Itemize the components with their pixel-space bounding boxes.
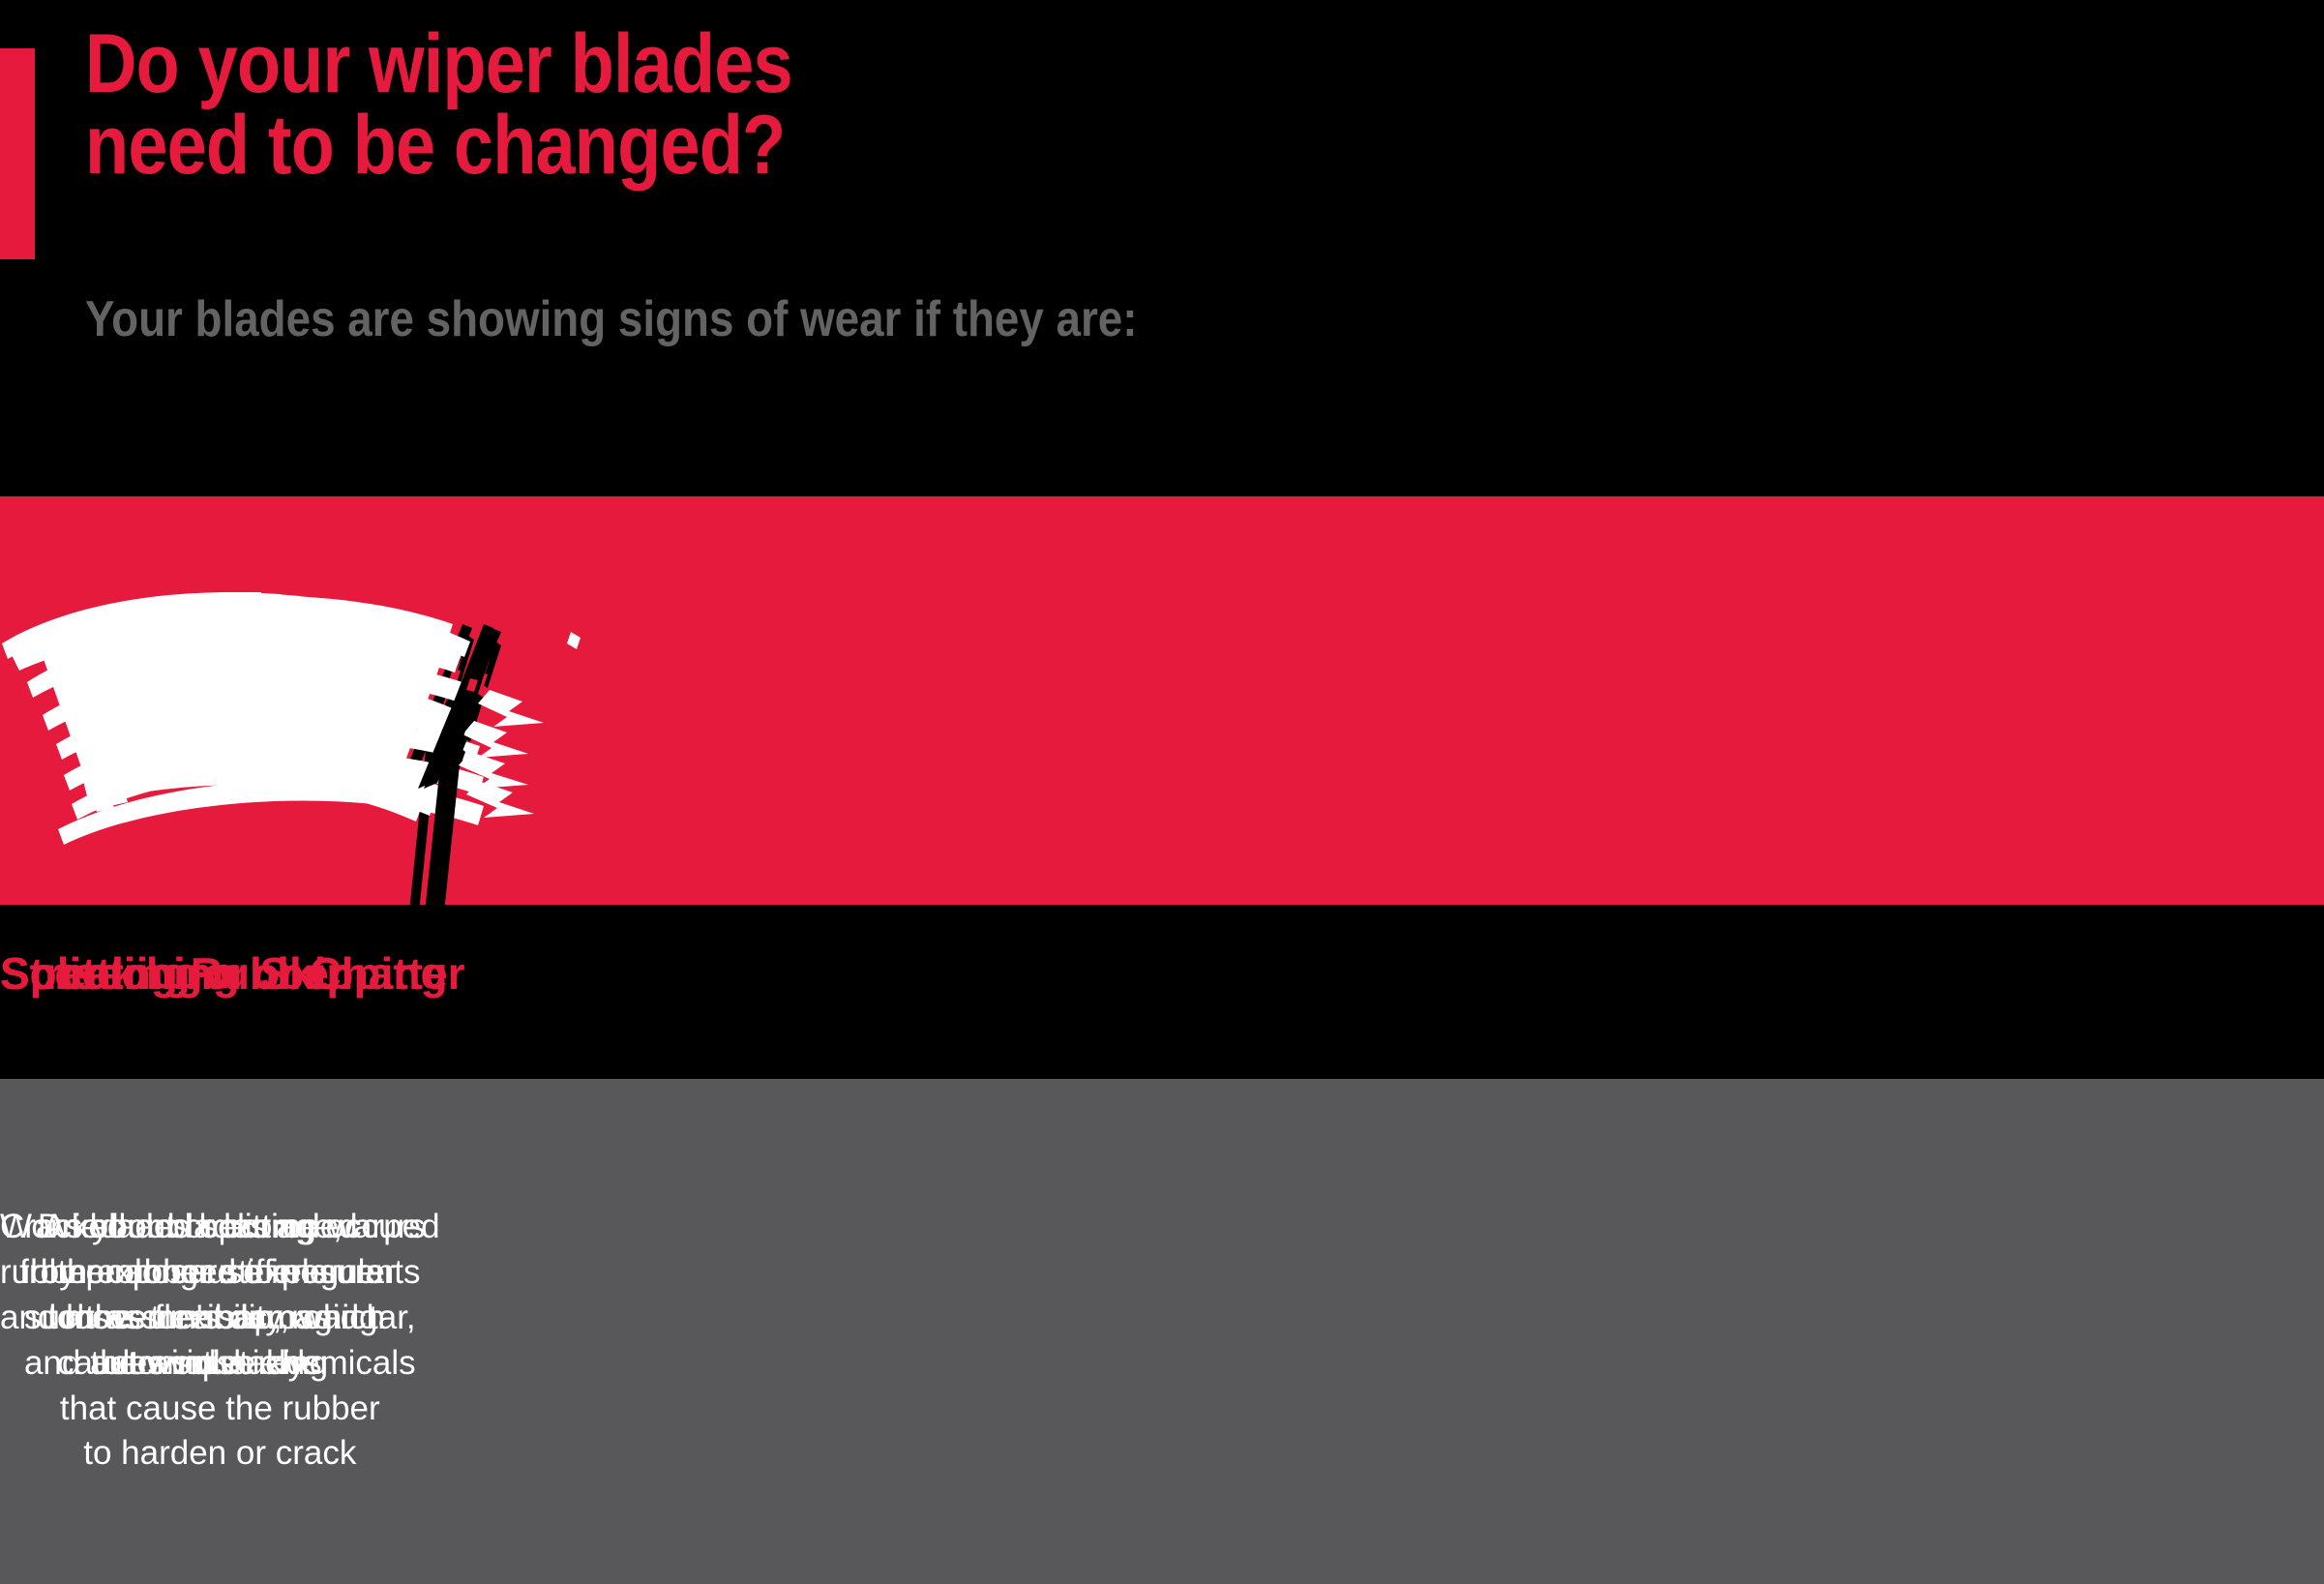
illustration-screeching-or-chatter <box>0 496 581 905</box>
description-band: Dried out or corroded rubber can cause i… <box>0 1079 2324 1584</box>
page-title: Do your wiper blades need to be changed? <box>85 23 1416 187</box>
page-subtitle: Your blades are showing signs of wear if… <box>85 290 1533 348</box>
illustration-band <box>0 496 2324 905</box>
header-section: Do your wiper blades need to be changed?… <box>0 0 2324 496</box>
label-band: Scooting or Skipping Streaking Splitting… <box>0 905 2324 1079</box>
label-screeching-or-chatter: Screeching or Chatter <box>0 947 465 1000</box>
arc-streaks-icon <box>2 592 470 822</box>
description-screeching-or-chatter: As your blades age, the rubber stiffens … <box>0 1205 385 1387</box>
accent-bar <box>0 48 35 259</box>
